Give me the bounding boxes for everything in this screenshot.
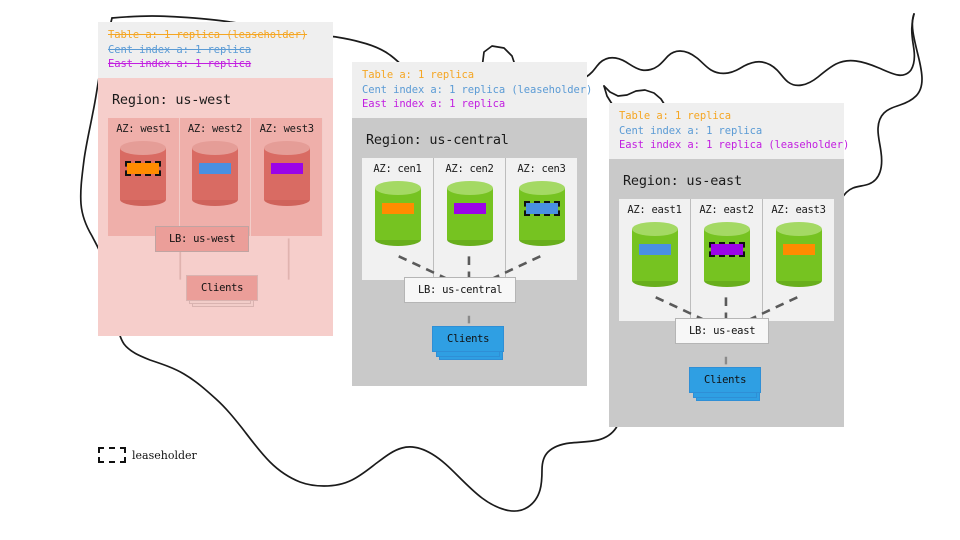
cylinder-top bbox=[519, 181, 565, 195]
cylinder-body bbox=[264, 148, 310, 200]
cylinder-top bbox=[120, 141, 166, 155]
cylinder-top bbox=[447, 181, 493, 195]
az-label-east2: AZ: east2 bbox=[699, 204, 753, 216]
node-cen1[interactable] bbox=[375, 181, 421, 245]
az-label-east1: AZ: east1 bbox=[627, 204, 681, 216]
cylinder-body bbox=[632, 229, 678, 281]
node-east2[interactable] bbox=[704, 222, 750, 286]
node-east1[interactable] bbox=[632, 222, 678, 286]
node-west2[interactable] bbox=[192, 141, 238, 205]
legend-line-table-a: Table a: 1 replica bbox=[619, 109, 836, 124]
cylinder-body bbox=[519, 188, 565, 240]
cylinder-body bbox=[447, 188, 493, 240]
node-cen3[interactable] bbox=[519, 181, 565, 245]
region-title-us-west: Region: us-west bbox=[112, 92, 323, 108]
region-title-us-central: Region: us-central bbox=[366, 132, 577, 148]
az-label-west2: AZ: west2 bbox=[188, 123, 242, 135]
cylinder-body bbox=[704, 229, 750, 281]
region-body-us-west: Region: us-west AZ: west1 AZ: west2 bbox=[98, 78, 333, 336]
legend-line-east-index-a: East index a: 1 replica bbox=[362, 97, 579, 112]
diagram-canvas: Table a: 1 replica (leaseholder) Cent in… bbox=[0, 0, 960, 540]
cylinder-body bbox=[120, 148, 166, 200]
legend-line-east-index-a: East index a: 1 replica (leaseholder) bbox=[619, 138, 836, 153]
range-table-a-leaseholder[interactable] bbox=[127, 163, 159, 174]
az-strip-us-central: AZ: cen1 AZ: cen2 bbox=[362, 158, 577, 280]
az-east3[interactable]: AZ: east3 bbox=[763, 199, 834, 321]
cylinder-body bbox=[192, 148, 238, 200]
leaseholder-key: leaseholder bbox=[98, 447, 197, 463]
az-label-east3: AZ: east3 bbox=[771, 204, 825, 216]
node-cen2[interactable] bbox=[447, 181, 493, 245]
dashed-rect-icon bbox=[98, 447, 126, 463]
lb-us-west[interactable]: LB: us-west bbox=[155, 226, 249, 252]
clients-label-us-central[interactable]: Clients bbox=[432, 326, 504, 352]
cylinder-top bbox=[264, 141, 310, 155]
range-east-index-a[interactable] bbox=[271, 163, 303, 174]
range-table-a[interactable] bbox=[783, 244, 815, 255]
legend-line-table-a: Table a: 1 replica (leaseholder) bbox=[108, 28, 325, 43]
node-west1[interactable] bbox=[120, 141, 166, 205]
az-west2[interactable]: AZ: west2 bbox=[180, 118, 252, 236]
node-west3[interactable] bbox=[264, 141, 310, 205]
clients-us-west[interactable]: Clients bbox=[186, 275, 258, 301]
cylinder-body bbox=[375, 188, 421, 240]
range-east-index-a-leaseholder[interactable] bbox=[711, 244, 743, 255]
az-west3[interactable]: AZ: west3 bbox=[251, 118, 323, 236]
legend-line-cent-index-a: Cent index a: 1 replica bbox=[619, 124, 836, 139]
region-panel-us-central: Table a: 1 replica Cent index a: 1 repli… bbox=[352, 62, 587, 386]
az-label-cen1: AZ: cen1 bbox=[373, 163, 421, 175]
cylinder-top bbox=[632, 222, 678, 236]
az-cen3[interactable]: AZ: cen3 bbox=[506, 158, 577, 280]
az-strip-us-east: AZ: east1 AZ: east2 bbox=[619, 199, 834, 321]
region-body-us-east: Region: us-east AZ: east1 AZ: east2 bbox=[609, 159, 844, 427]
az-cen2[interactable]: AZ: cen2 bbox=[434, 158, 506, 280]
range-table-a[interactable] bbox=[382, 203, 414, 214]
leaseholder-key-label: leaseholder bbox=[132, 449, 197, 462]
legend-line-east-index-a: East index a: 1 replica bbox=[108, 57, 325, 72]
az-west1[interactable]: AZ: west1 bbox=[108, 118, 180, 236]
cylinder-top bbox=[375, 181, 421, 195]
range-cent-index-a[interactable] bbox=[199, 163, 231, 174]
clients-label-us-east[interactable]: Clients bbox=[689, 367, 761, 393]
lb-us-central[interactable]: LB: us-central bbox=[404, 277, 516, 303]
region-title-us-east: Region: us-east bbox=[623, 173, 834, 189]
az-label-cen2: AZ: cen2 bbox=[445, 163, 493, 175]
region-legend-us-west: Table a: 1 replica (leaseholder) Cent in… bbox=[98, 22, 333, 78]
az-label-west1: AZ: west1 bbox=[116, 123, 170, 135]
region-body-us-central: Region: us-central AZ: cen1 AZ: cen2 bbox=[352, 118, 587, 386]
clients-us-east[interactable]: Clients bbox=[689, 367, 761, 393]
clients-label-us-west[interactable]: Clients bbox=[186, 275, 258, 301]
az-label-cen3: AZ: cen3 bbox=[517, 163, 565, 175]
cylinder-top bbox=[704, 222, 750, 236]
cylinder-top bbox=[776, 222, 822, 236]
clients-us-central[interactable]: Clients bbox=[432, 326, 504, 352]
az-east2[interactable]: AZ: east2 bbox=[691, 199, 763, 321]
legend-line-table-a: Table a: 1 replica bbox=[362, 68, 579, 83]
region-legend-us-east: Table a: 1 replica Cent index a: 1 repli… bbox=[609, 103, 844, 159]
range-east-index-a[interactable] bbox=[454, 203, 486, 214]
az-east1[interactable]: AZ: east1 bbox=[619, 199, 691, 321]
node-east3[interactable] bbox=[776, 222, 822, 286]
range-cent-index-a-leaseholder[interactable] bbox=[526, 203, 558, 214]
region-legend-us-central: Table a: 1 replica Cent index a: 1 repli… bbox=[352, 62, 587, 118]
az-cen1[interactable]: AZ: cen1 bbox=[362, 158, 434, 280]
legend-line-cent-index-a: Cent index a: 1 replica bbox=[108, 43, 325, 58]
range-cent-index-a[interactable] bbox=[639, 244, 671, 255]
az-label-west3: AZ: west3 bbox=[260, 123, 314, 135]
region-panel-us-east: Table a: 1 replica Cent index a: 1 repli… bbox=[609, 103, 844, 427]
region-panel-us-west: Table a: 1 replica (leaseholder) Cent in… bbox=[98, 22, 333, 336]
lb-us-east[interactable]: LB: us-east bbox=[675, 318, 769, 344]
az-strip-us-west: AZ: west1 AZ: west2 bbox=[108, 118, 323, 236]
cylinder-body bbox=[776, 229, 822, 281]
cylinder-top bbox=[192, 141, 238, 155]
legend-line-cent-index-a: Cent index a: 1 replica (leaseholder) bbox=[362, 83, 579, 98]
